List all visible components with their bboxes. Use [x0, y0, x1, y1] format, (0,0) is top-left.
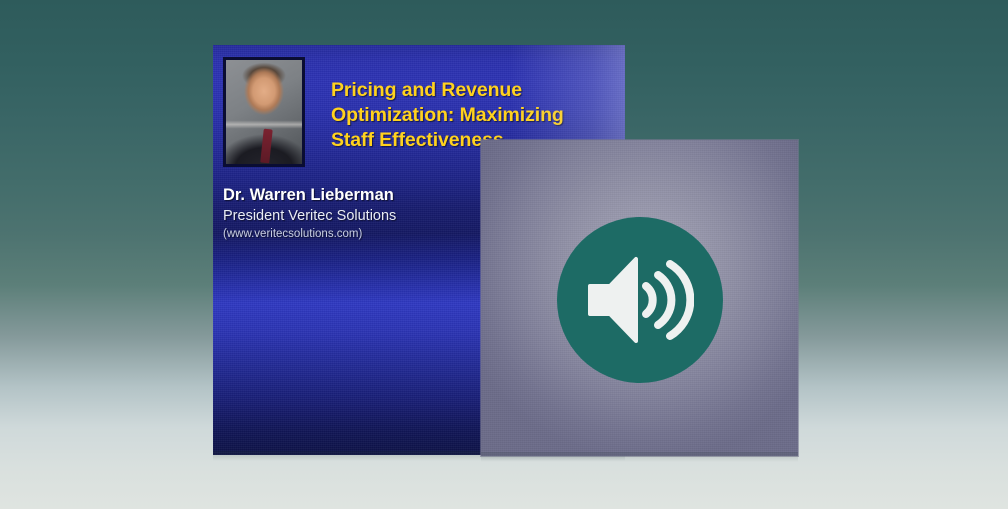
speaker-name: Dr. Warren Lieberman — [223, 185, 523, 206]
speaker-website: (www.veritecsolutions.com) — [223, 226, 523, 243]
speaker-role: President Veritec Solutions — [223, 206, 523, 226]
screenshot-stage: Pricing and Revenue Optimization: Maximi… — [0, 0, 1008, 509]
speaker-portrait — [223, 57, 305, 167]
portrait-tie — [260, 128, 273, 163]
speaker-info-block: Dr. Warren Lieberman President Veritec S… — [223, 185, 523, 243]
speaker-volume-icon[interactable] — [557, 217, 723, 383]
slide-title-line-2: Optimization: Maximizing — [331, 103, 625, 128]
audio-overlay-panel[interactable] — [481, 140, 798, 456]
speaker-portrait-photo — [226, 60, 302, 164]
slide-title-line-1: Pricing and Revenue — [331, 78, 625, 103]
